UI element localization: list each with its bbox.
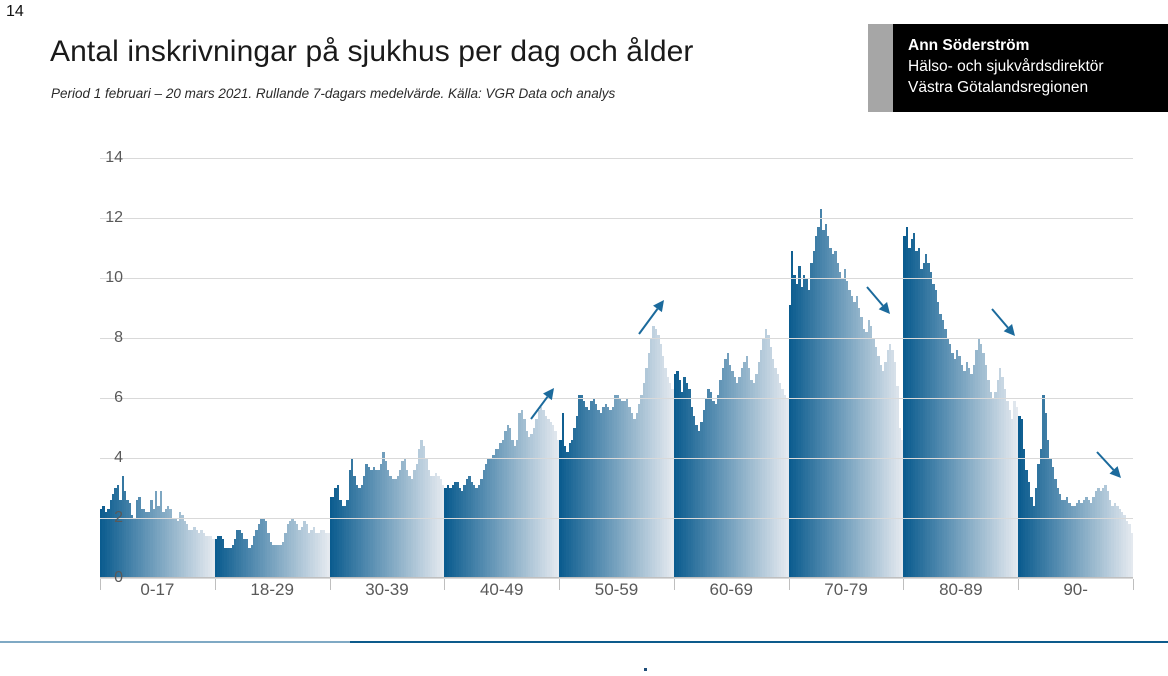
x-axis-label-30-39: 30-39 [365,580,408,600]
y-axis-tick-label: 12 [63,209,123,227]
x-axis-label-70-79: 70-79 [824,580,867,600]
speaker-badge-strip [868,24,893,112]
x-axis-label-50-59: 50-59 [595,580,638,600]
gridline [100,218,1133,219]
gridline [100,278,1133,279]
x-axis-tick [100,579,101,590]
bar-group-18-29 [215,158,330,578]
x-axis-label-0-17: 0-17 [140,580,174,600]
bar-group-60-69 [674,158,789,578]
y-axis-tick-label: 2 [63,509,123,527]
gridline [100,338,1133,339]
x-axis-label-90-: 90- [1063,580,1088,600]
x-axis-tick [559,579,560,590]
bar [1131,533,1133,578]
x-axis-tick [903,579,904,590]
x-axis-tick [1018,579,1019,590]
x-axis-tick [330,579,331,590]
x-axis-tick [674,579,675,590]
x-axis-tick [1133,579,1134,590]
footer-rule-left [0,641,350,643]
x-axis-label-60-69: 60-69 [710,580,753,600]
bar-group-30-39 [330,158,445,578]
page-title: Antal inskrivningar på sjukhus per dag o… [50,35,694,69]
gridline [100,398,1133,399]
gridline [100,458,1133,459]
y-axis-tick-label: 8 [63,329,123,347]
x-axis-tick [444,579,445,590]
x-axis-label-80-89: 80-89 [939,580,982,600]
y-axis-tick-label: 14 [63,149,123,167]
speaker-badge: Ann Söderström Hälso- och sjukvårdsdirek… [868,24,1168,112]
bar-group-80-89 [903,158,1018,578]
y-axis-tick-label: 10 [63,269,123,287]
slide-number: 14 [6,4,24,20]
slide-root: 14 Antal inskrivningar på sjukhus per da… [0,0,1168,676]
speaker-role: Hälso- och sjukvårdsdirektör [908,56,1164,77]
gridline [100,578,1133,579]
speaker-organisation: Västra Götalandsregionen [908,77,1164,98]
y-axis-tick-label: 4 [63,449,123,467]
speaker-name: Ann Söderström [908,35,1164,56]
x-axis-tick [215,579,216,590]
x-axis-tick [789,579,790,590]
chart: 02468101214 0-1718-2930-3940-4950-5960-6… [0,140,1168,610]
x-axis-label-18-29: 18-29 [250,580,293,600]
y-axis-tick-label: 6 [63,389,123,407]
bar-group-50-59 [559,158,674,578]
bar-groups [100,158,1133,578]
gridline [100,158,1133,159]
x-axis-label-40-49: 40-49 [480,580,523,600]
gridline [100,518,1133,519]
speaker-badge-text: Ann Söderström Hälso- och sjukvårdsdirek… [908,35,1164,98]
footer-rule-right [350,641,1168,643]
page-subtitle: Period 1 februari – 20 mars 2021. Rullan… [51,86,615,101]
footer-dot [644,668,647,671]
plot-area [100,158,1133,578]
bar-group-70-79 [789,158,904,578]
bar-group-90- [1018,158,1133,578]
bar-group-40-49 [444,158,559,578]
y-axis-tick-label: 0 [63,569,123,587]
